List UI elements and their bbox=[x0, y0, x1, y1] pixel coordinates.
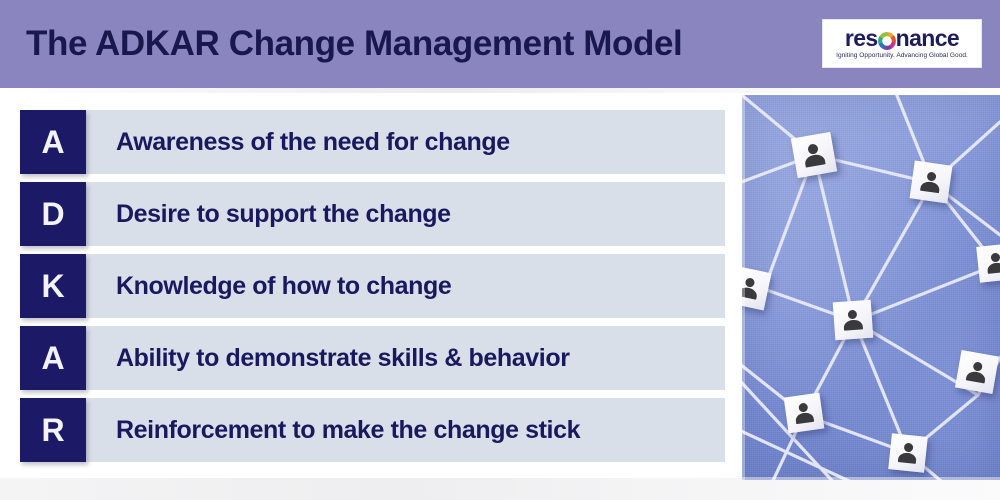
row-description: Desire to support the change bbox=[86, 182, 725, 246]
logo-wordmark: res nance bbox=[845, 27, 959, 50]
adkar-row-list: A Awareness of the need for change D Des… bbox=[20, 110, 725, 462]
person-icon bbox=[963, 358, 990, 385]
row-description: Ability to demonstrate skills & behavior bbox=[86, 326, 725, 390]
bottom-divider bbox=[0, 478, 1000, 500]
person-icon bbox=[840, 307, 865, 332]
row-description: Knowledge of how to change bbox=[86, 254, 725, 318]
top-divider bbox=[0, 88, 1000, 93]
person-icon bbox=[896, 441, 921, 466]
letter-badge-label: A bbox=[41, 126, 64, 158]
letter-badge-label: R bbox=[41, 414, 64, 446]
table-row: D Desire to support the change bbox=[20, 182, 725, 246]
network-node bbox=[888, 433, 928, 473]
person-icon bbox=[918, 169, 945, 196]
page-title: The ADKAR Change Management Model bbox=[26, 24, 682, 64]
photo-left-edge bbox=[742, 95, 745, 480]
table-row: R Reinforcement to make the change stick bbox=[20, 398, 725, 462]
person-icon bbox=[800, 141, 829, 170]
photo-bottom-edge bbox=[742, 477, 1000, 480]
letter-badge-label: D bbox=[41, 198, 64, 230]
network-node bbox=[976, 243, 1000, 283]
letter-badge-label: A bbox=[41, 342, 64, 374]
multicolor-ring-icon bbox=[878, 32, 896, 50]
network-node bbox=[955, 350, 999, 394]
network-lines bbox=[742, 95, 1000, 480]
letter-badge: A bbox=[20, 110, 86, 174]
letter-badge: A bbox=[20, 326, 86, 390]
network-photo bbox=[742, 95, 1000, 480]
network-node bbox=[784, 393, 825, 434]
logo-word-part2: nance bbox=[896, 27, 959, 50]
resonance-logo: res nance Igniting Opportunity. Advancin… bbox=[822, 19, 982, 68]
logo-word-part1: res bbox=[845, 27, 878, 50]
table-row: A Awareness of the need for change bbox=[20, 110, 725, 174]
row-description: Reinforcement to make the change stick bbox=[86, 398, 725, 462]
person-icon bbox=[742, 274, 763, 302]
network-node bbox=[833, 300, 874, 341]
adkar-infographic: The ADKAR Change Management Model res na… bbox=[0, 0, 1000, 500]
row-description: Awareness of the need for change bbox=[86, 110, 725, 174]
network-node bbox=[910, 161, 953, 204]
network-node bbox=[791, 132, 837, 178]
table-row: K Knowledge of how to change bbox=[20, 254, 725, 318]
letter-badge-label: K bbox=[41, 270, 64, 302]
logo-tagline: Igniting Opportunity. Advancing Global G… bbox=[836, 52, 968, 59]
table-row: A Ability to demonstrate skills & behavi… bbox=[20, 326, 725, 390]
header-band: The ADKAR Change Management Model res na… bbox=[0, 0, 1000, 88]
person-icon bbox=[791, 400, 816, 425]
letter-badge: D bbox=[20, 182, 86, 246]
person-icon bbox=[984, 251, 1000, 276]
letter-badge: K bbox=[20, 254, 86, 318]
letter-badge: R bbox=[20, 398, 86, 462]
